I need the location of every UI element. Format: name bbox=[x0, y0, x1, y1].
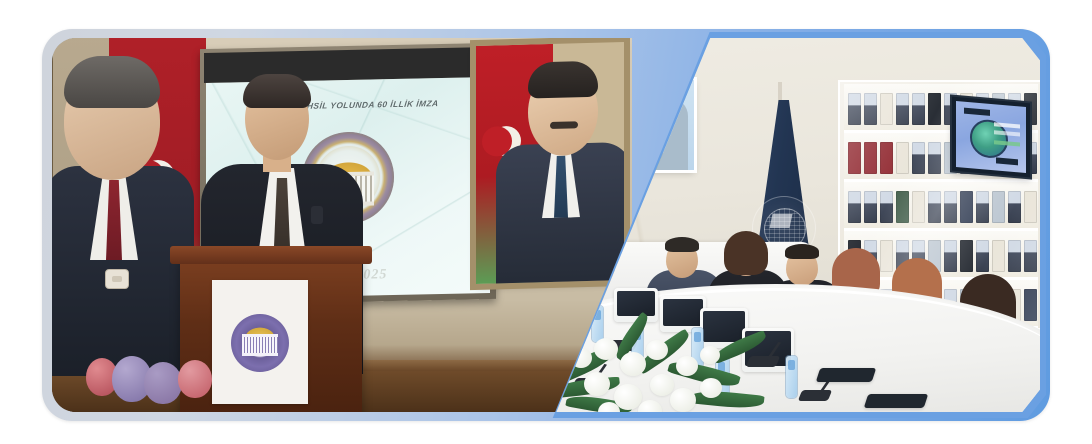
balloon bbox=[144, 362, 182, 404]
retractable-monitor bbox=[614, 288, 658, 322]
attendee-hair bbox=[724, 231, 768, 275]
photo-collage-card: ELM VƏ TƏHSİL YOLUNDA 60 İLLİK İMZA 1965… bbox=[42, 29, 1050, 421]
monitor-slide-bar bbox=[964, 108, 990, 116]
speaker-lapel-badge bbox=[311, 206, 323, 224]
portrait-hair bbox=[64, 56, 160, 108]
water-bottle bbox=[786, 356, 797, 398]
portrait-ilham-aliyev bbox=[476, 42, 624, 284]
attendee-hair bbox=[665, 237, 699, 252]
university-crest bbox=[231, 314, 289, 372]
wall-socket-icon bbox=[106, 270, 128, 288]
tablet bbox=[816, 368, 877, 382]
monitor-slide-bar-2 bbox=[996, 157, 1018, 165]
balloon bbox=[178, 360, 212, 398]
microphone bbox=[798, 390, 832, 401]
portrait-moustache bbox=[550, 121, 578, 129]
photo-left-scene: ELM VƏ TƏHSİL YOLUNDA 60 İLLİK İMZA 1965… bbox=[52, 38, 632, 412]
crest-wing-ornament bbox=[243, 326, 277, 338]
podium-crest-panel bbox=[212, 280, 308, 404]
podium-top-ledge bbox=[170, 246, 372, 264]
portrait-hair-2 bbox=[528, 61, 598, 99]
attendee-hair bbox=[785, 244, 819, 259]
screenshot-stage: ELM VƏ TƏHSİL YOLUNDA 60 İLLİK İMZA 1965… bbox=[0, 0, 1092, 444]
photo-left[interactable]: ELM VƏ TƏHSİL YOLUNDA 60 İLLİK İMZA 1965… bbox=[52, 38, 632, 412]
wall-mounted-monitor bbox=[952, 97, 1030, 178]
tablet bbox=[864, 394, 929, 408]
monitor-screen bbox=[956, 101, 1026, 173]
speaker-hair bbox=[243, 74, 311, 108]
